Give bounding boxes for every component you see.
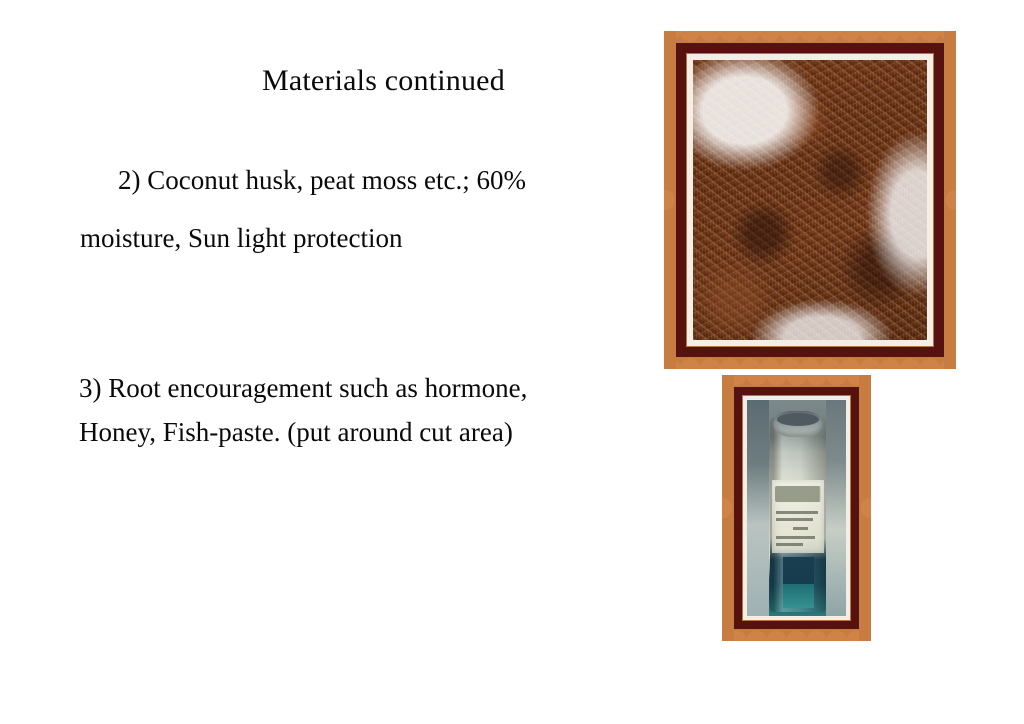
coconut-husk-photo-frame	[664, 31, 956, 369]
bottle-opening	[777, 413, 820, 426]
bullet-item-2-line-1: 2) Coconut husk, peat moss etc.; 60%	[118, 163, 526, 197]
hormone-bottle-photo	[747, 400, 846, 616]
bottle-label	[772, 480, 824, 553]
bullet-item-3-line-2: Honey, Fish-paste. (put around cut area)	[79, 415, 513, 449]
bullet-item-3-line-1: 3) Root encouragement such as hormone,	[79, 371, 527, 405]
coconut-husk-photo	[693, 60, 927, 340]
bullet-item-2-line-2: moisture, Sun light protection	[80, 221, 402, 255]
photo-matte	[686, 53, 934, 347]
hormone-bottle-image	[747, 400, 846, 616]
photo-matte	[742, 395, 851, 621]
coconut-husk-image	[693, 60, 927, 340]
page-title: Materials continued	[262, 62, 505, 100]
presentation-slide: Materials continued 2) Coconut husk, pea…	[0, 0, 1024, 724]
hormone-bottle-photo-frame	[722, 375, 871, 641]
